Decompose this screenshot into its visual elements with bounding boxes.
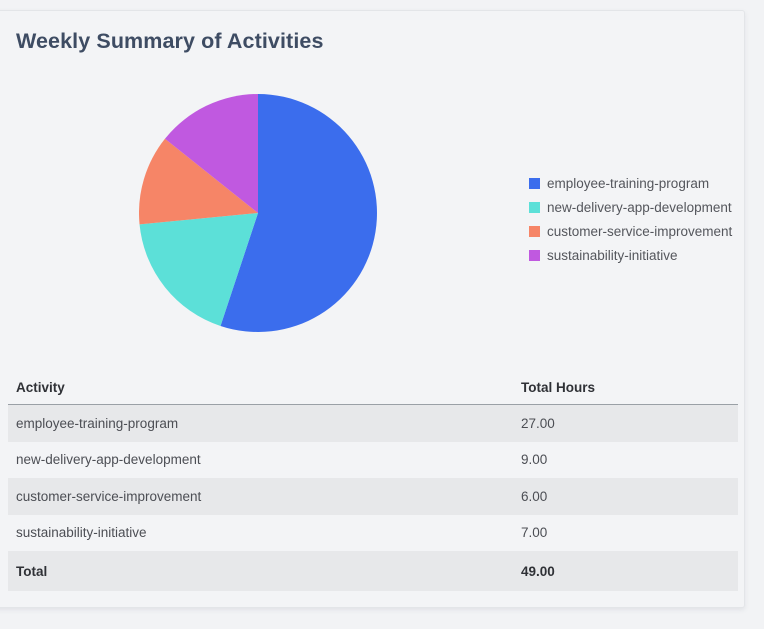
legend-item: employee-training-program [529,175,732,192]
chart-legend: employee-training-programnew-delivery-ap… [529,175,732,264]
legend-item-label: sustainability-initiative [547,247,678,264]
page-root: Weekly Summary of Activities employee-tr… [0,0,764,629]
table-row: employee-training-program27.00 [8,405,738,442]
cell-total-hours: 27.00 [521,416,738,431]
cell-activity: customer-service-improvement [8,489,521,504]
cell-total-hours: 9.00 [521,452,738,467]
legend-color-swatch-icon [529,202,540,213]
column-header-activity: Activity [8,380,521,395]
cell-total-hours: 6.00 [521,489,738,504]
legend-color-swatch-icon [529,226,540,237]
table-total-row: Total 49.00 [8,551,738,591]
cell-activity: sustainability-initiative [8,525,521,540]
legend-color-swatch-icon [529,250,540,261]
table-header-row: Activity Total Hours [8,371,738,405]
legend-item-label: customer-service-improvement [547,223,732,240]
page-title: Weekly Summary of Activities [16,29,324,54]
summary-card: Weekly Summary of Activities employee-tr… [0,10,745,608]
cell-activity: employee-training-program [8,416,521,431]
column-header-total-hours: Total Hours [521,380,738,395]
legend-item-label: employee-training-program [547,175,709,192]
table-row: new-delivery-app-development9.00 [8,442,738,479]
total-hours-value: 49.00 [521,564,738,579]
pie-chart-svg [139,94,377,332]
legend-item: new-delivery-app-development [529,199,732,216]
activities-table: Activity Total Hours employee-training-p… [8,371,738,591]
cell-activity: new-delivery-app-development [8,452,521,467]
cell-total-hours: 7.00 [521,525,738,540]
legend-item: sustainability-initiative [529,247,732,264]
chart-area: employee-training-programnew-delivery-ap… [0,71,744,361]
legend-color-swatch-icon [529,178,540,189]
table-row: sustainability-initiative7.00 [8,515,738,552]
pie-chart [139,94,377,332]
legend-item-label: new-delivery-app-development [547,199,732,216]
legend-item: customer-service-improvement [529,223,732,240]
table-row: customer-service-improvement6.00 [8,478,738,515]
total-label: Total [8,564,521,579]
